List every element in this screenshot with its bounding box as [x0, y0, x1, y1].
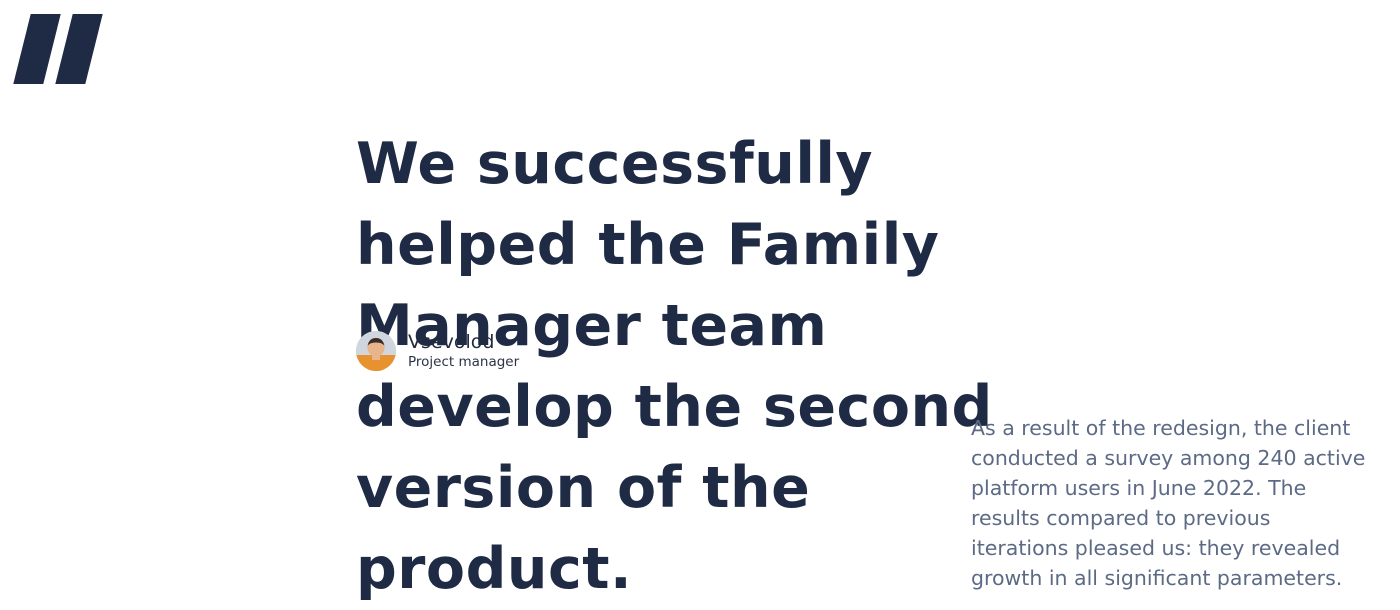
quotation-mark-icon	[8, 14, 118, 94]
quotation-mark-stroke-right	[55, 14, 102, 84]
author-role: Project manager	[408, 353, 519, 371]
quotation-mark-stroke-left	[13, 14, 60, 84]
author-text: Vsevolod Project manager	[408, 331, 519, 371]
body-paragraph: As a result of the redesign, the client …	[971, 413, 1366, 593]
avatar	[356, 331, 396, 371]
author-block: Vsevolod Project manager	[356, 331, 519, 371]
author-name: Vsevolod	[408, 331, 519, 353]
